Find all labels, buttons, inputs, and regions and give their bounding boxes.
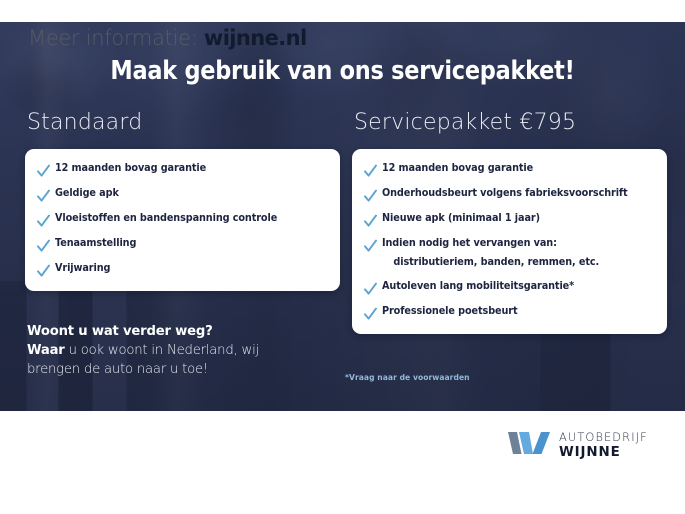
feature-label: Geldige apk xyxy=(55,188,119,200)
check-icon xyxy=(37,164,50,178)
check-icon xyxy=(364,307,377,321)
list-item: Tenaamstelling xyxy=(37,238,324,252)
promo-line-2-strong: Waar xyxy=(27,343,65,358)
feature-label-continuation: distributieriem, banden, remmen, etc. xyxy=(393,257,599,269)
list-item: Professionele poetsbeurt xyxy=(364,306,651,320)
promo-line-2-rest: u ook woont in Nederland, wij xyxy=(65,343,259,358)
feature-label: Onderhoudsbeurt volgens fabrieksvoorschr… xyxy=(382,188,628,200)
check-icon xyxy=(364,239,377,253)
list-item: 12 maanden bovag garantie xyxy=(364,163,651,177)
footer-label: Meer informatie: xyxy=(28,26,204,50)
list-item: 12 maanden bovag garantie xyxy=(37,163,324,177)
list-item: Vrijwaring xyxy=(37,263,324,277)
column-standaard: Standaard 12 maanden bovag garantie xyxy=(25,110,340,291)
check-icon xyxy=(364,164,377,178)
check-icon xyxy=(37,189,50,203)
feature-list-standaard: 12 maanden bovag garantie Geldige apk xyxy=(37,163,324,277)
list-item: Indien nodig het vervangen van: distribu… xyxy=(364,238,651,270)
list-item: Nieuwe apk (minimaal 1 jaar) xyxy=(364,213,651,227)
promo-line-2: Waar u ook woont in Nederland, wij xyxy=(27,341,337,360)
list-item: Geldige apk xyxy=(37,188,324,202)
check-icon xyxy=(37,264,50,278)
promo-line-3: brengen de auto naar u toe! xyxy=(27,360,337,379)
column-servicepakket: Servicepakket €795 12 maanden bovag gara… xyxy=(352,110,667,334)
feature-label: Vrijwaring xyxy=(55,263,110,275)
card-standaard: 12 maanden bovag garantie Geldige apk xyxy=(25,149,340,291)
check-icon xyxy=(364,282,377,296)
wijnne-w-mark-icon xyxy=(508,430,550,461)
logo-line-wijnne: WIJNNE xyxy=(559,446,648,459)
feature-label: 12 maanden bovag garantie xyxy=(55,163,206,175)
autobedrijf-wijnne-logo[interactable]: AUTOBEDRIJF WIJNNE xyxy=(508,430,648,461)
check-icon xyxy=(364,214,377,228)
footer-bar xyxy=(0,411,685,514)
feature-label: Indien nodig het vervangen van: xyxy=(382,238,557,249)
feature-list-servicepakket: 12 maanden bovag garantie Onderhoudsbeur… xyxy=(364,163,651,320)
promo-line-1: Woont u wat verder weg? xyxy=(27,322,337,341)
card-servicepakket: 12 maanden bovag garantie Onderhoudsbeur… xyxy=(352,149,667,334)
column-heading-servicepakket: Servicepakket €795 xyxy=(354,110,667,135)
feature-label: Vloeistoffen en bandenspanning controle xyxy=(55,213,277,225)
website-link[interactable]: wijnne.nl xyxy=(204,26,307,50)
feature-label: Professionele poetsbeurt xyxy=(382,306,518,318)
feature-label: Autoleven lang mobiliteitsgarantie* xyxy=(382,281,574,293)
hero-title: Maak gebruik van ons servicepakket! xyxy=(41,56,644,86)
servicepakket-banner: Maak gebruik van ons servicepakket! Stan… xyxy=(0,0,685,514)
promo-block: Woont u wat verder weg? Waar u ook woont… xyxy=(27,322,337,379)
feature-label: Nieuwe apk (minimaal 1 jaar) xyxy=(382,213,540,225)
footnote-voorwaarden: *Vraag naar de voorwaarden xyxy=(345,373,470,382)
list-item: Autoleven lang mobiliteitsgarantie* xyxy=(364,281,651,295)
footer-more-info: Meer informatie: wijnne.nl xyxy=(28,26,307,50)
top-white-strip xyxy=(0,0,685,22)
column-heading-standaard: Standaard xyxy=(27,110,340,135)
list-item: Vloeistoffen en bandenspanning controle xyxy=(37,213,324,227)
feature-label: 12 maanden bovag garantie xyxy=(382,163,533,175)
feature-label-multiline: Indien nodig het vervangen van: distribu… xyxy=(382,238,599,270)
check-icon xyxy=(37,214,50,228)
list-item: Onderhoudsbeurt volgens fabrieksvoorschr… xyxy=(364,188,651,202)
logo-line-autobedrijf: AUTOBEDRIJF xyxy=(559,432,648,443)
check-icon xyxy=(364,189,377,203)
logo-wordmark: AUTOBEDRIJF WIJNNE xyxy=(559,432,648,459)
check-icon xyxy=(37,239,50,253)
feature-label: Tenaamstelling xyxy=(55,238,136,250)
